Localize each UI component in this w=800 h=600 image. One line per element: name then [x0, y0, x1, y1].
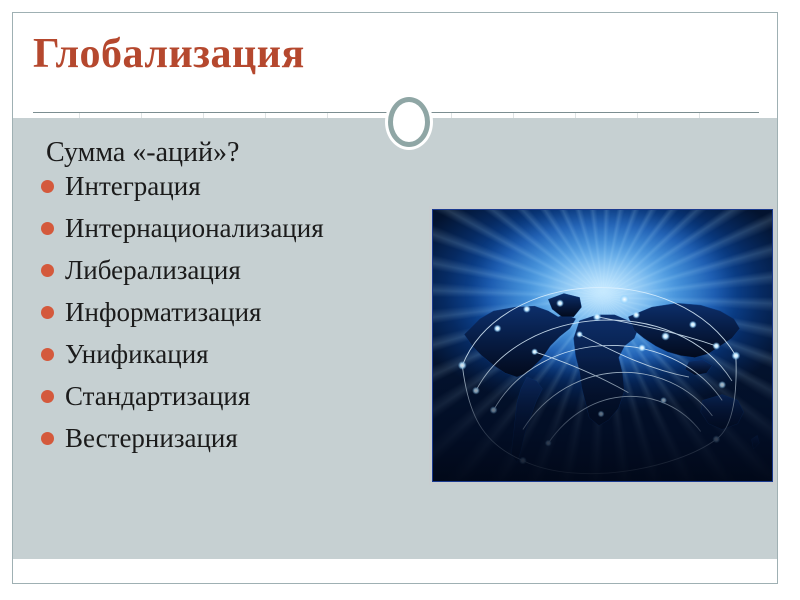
lead-text: Сумма «-аций»?: [31, 138, 451, 167]
list-item: Интеграция: [31, 173, 451, 215]
list-item-label: Интернационализация: [65, 215, 324, 242]
list-item: Интернационализация: [31, 215, 451, 257]
list-item: Унификация: [31, 341, 451, 383]
image-inner: [432, 209, 773, 482]
list-item-label: Вестернизация: [65, 425, 238, 452]
list-item: Информатизация: [31, 299, 451, 341]
page-bottom-margin: [0, 585, 800, 600]
slide-body: Сумма «-аций»? Интеграция Интернационали…: [13, 118, 777, 559]
list-item-label: Унификация: [65, 341, 209, 368]
presentation-slide: Глобализация Сумма «-аций»? Интеграция И…: [12, 12, 778, 584]
slide-header: Глобализация: [13, 13, 777, 112]
bullet-dot-icon: [41, 390, 54, 403]
list-item-label: Информатизация: [65, 299, 261, 326]
bullet-dot-icon: [41, 180, 54, 193]
list-item-label: Стандартизация: [65, 383, 250, 410]
list-item-label: Интеграция: [65, 173, 201, 200]
page-right-margin: [779, 0, 800, 600]
list-item: Стандартизация: [31, 383, 451, 425]
world-map-network-image: [429, 206, 776, 485]
bullet-dot-icon: [41, 264, 54, 277]
decorative-ring-icon: [388, 97, 430, 147]
image-bottom-shade: [433, 356, 772, 481]
list-item: Вестернизация: [31, 425, 451, 467]
list-item-label: Либерализация: [65, 257, 241, 284]
page-title: Глобализация: [33, 33, 305, 75]
bullet-dot-icon: [41, 222, 54, 235]
bullet-list: Интеграция Интернационализация Либерализ…: [31, 173, 451, 467]
bullet-content: Сумма «-аций»? Интеграция Интернационали…: [31, 138, 451, 467]
bullet-dot-icon: [41, 306, 54, 319]
list-item: Либерализация: [31, 257, 451, 299]
bullet-dot-icon: [41, 348, 54, 361]
bullet-dot-icon: [41, 432, 54, 445]
